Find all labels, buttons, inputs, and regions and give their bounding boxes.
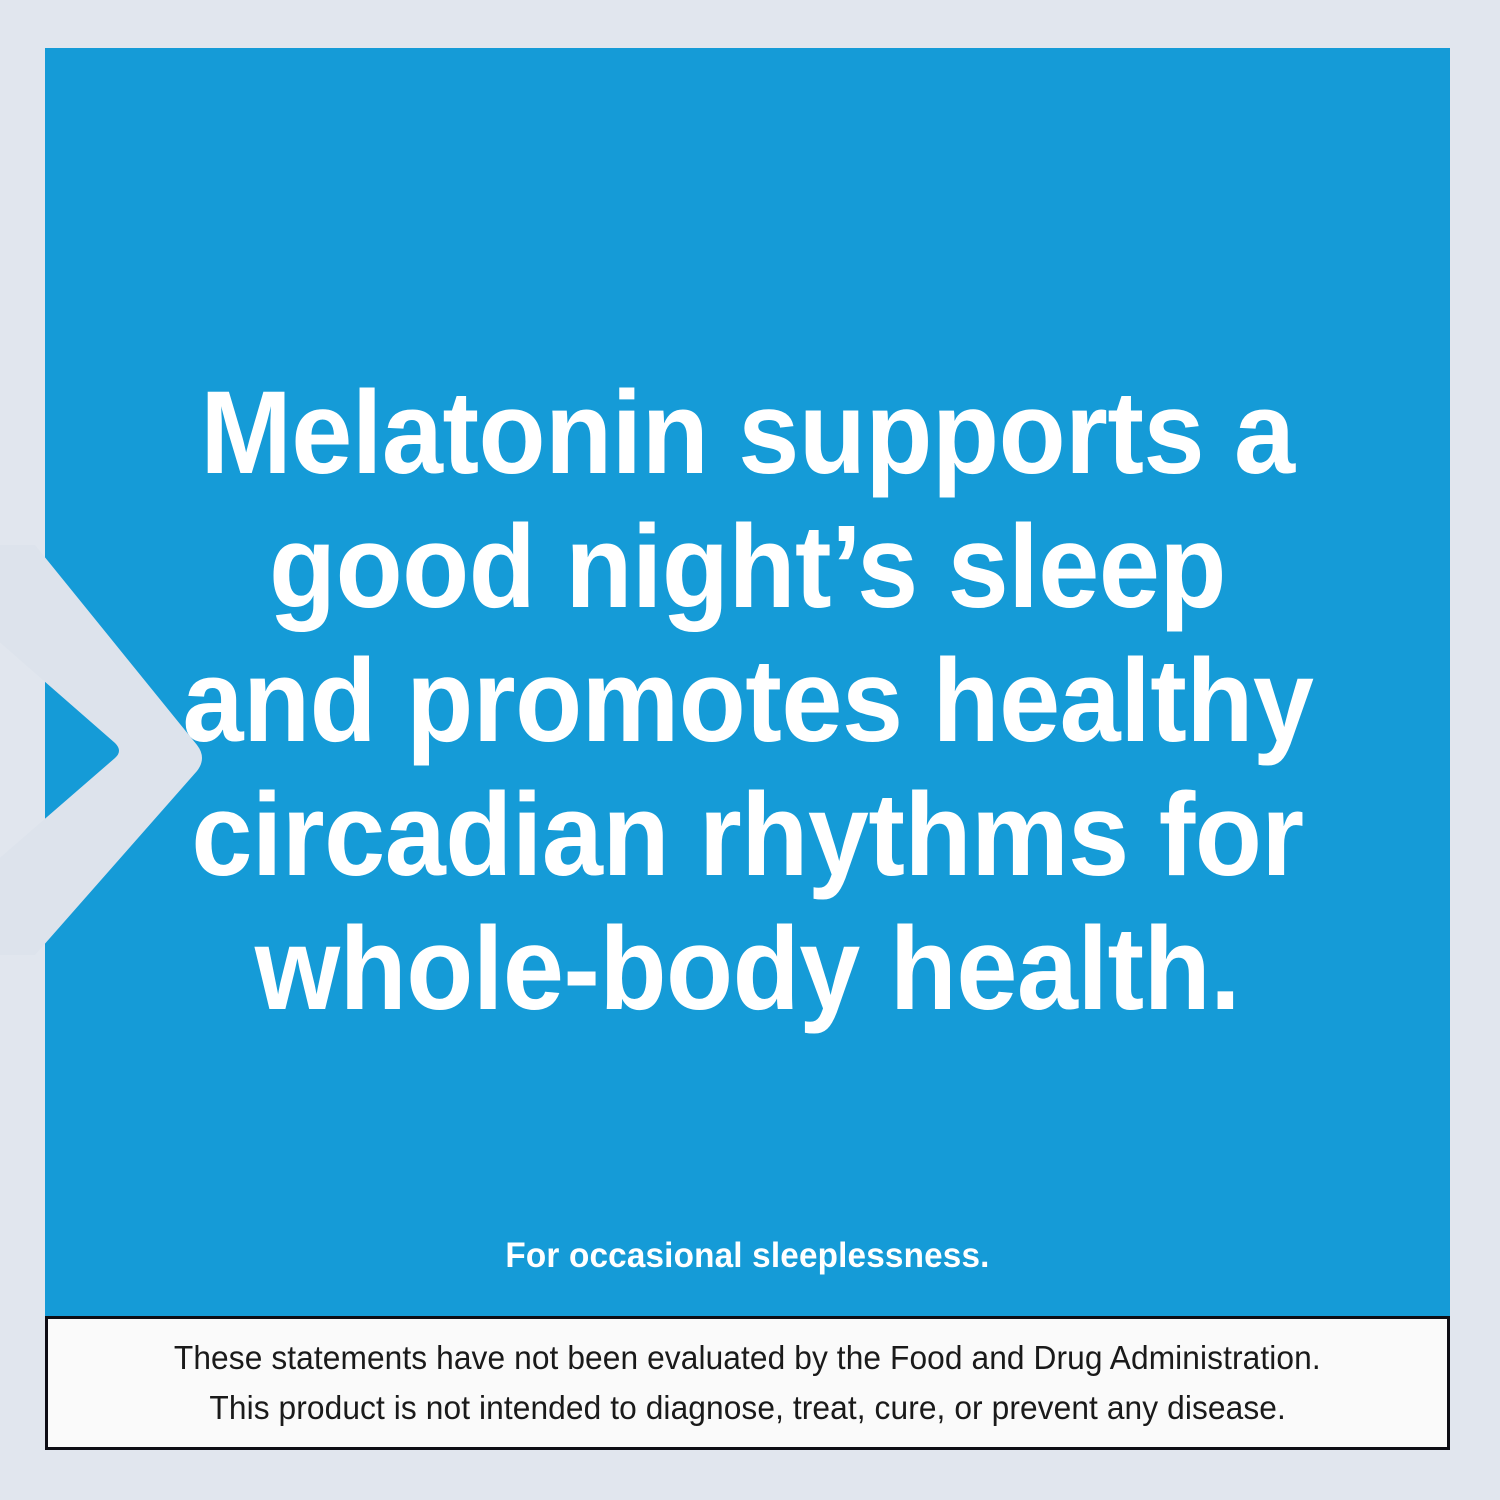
disclaimer-line-1: These statements have not been evaluated… <box>174 1333 1321 1383</box>
page-title: Melatonin supports a good night’s sleep … <box>94 366 1401 1036</box>
headline-line-5: whole-body health. <box>183 902 1313 1036</box>
disclaimer-line-2: This product is not intended to diagnose… <box>209 1383 1285 1433</box>
headline-line-3: and promotes healthy <box>183 634 1313 768</box>
product-claim-graphic: Melatonin supports a good night’s sleep … <box>0 0 1500 1500</box>
subtitle-claim: For occasional sleeplessness. <box>80 1233 1415 1279</box>
headline-line-4: circadian rhythms for <box>183 768 1313 902</box>
headline-line-1: Melatonin supports a <box>183 366 1313 500</box>
hero-panel: Melatonin supports a good night’s sleep … <box>45 48 1450 1316</box>
fda-disclaimer-box: These statements have not been evaluated… <box>45 1316 1450 1450</box>
headline-line-2: good night’s sleep <box>183 500 1313 634</box>
